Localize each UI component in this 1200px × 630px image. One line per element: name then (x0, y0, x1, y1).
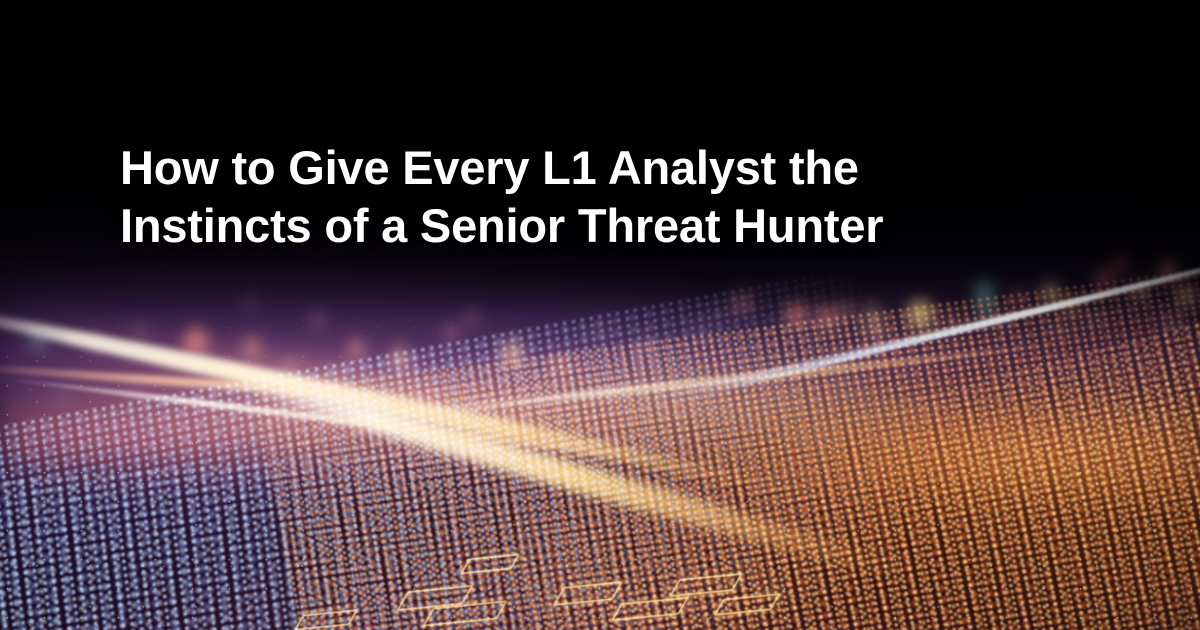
bokeh-light (175, 317, 217, 366)
geometric-outline (611, 597, 689, 622)
bokeh-light (990, 308, 1015, 337)
bokeh-light (1005, 283, 1032, 314)
wave-crest-rim (657, 240, 1200, 408)
bokeh-light (633, 331, 660, 362)
stream-outer-glow (0, 268, 909, 533)
stream-thin-1 (2, 375, 670, 464)
bokeh-light (1160, 308, 1185, 337)
bokeh-light (808, 296, 844, 339)
bokeh-light (1034, 274, 1066, 312)
blue-particle-field-2 (0, 420, 848, 630)
bokeh-light (1152, 252, 1184, 290)
bokeh-light (22, 320, 54, 358)
geometric-outline (422, 600, 507, 626)
geometric-outline (396, 585, 473, 611)
bokeh-light (725, 283, 759, 323)
blue-particle-field (0, 250, 989, 630)
red-particle-field (420, 250, 1200, 630)
bokeh-light (437, 316, 466, 350)
bokeh-light (236, 328, 268, 366)
stream-core-lower (203, 358, 926, 590)
bokeh-light (493, 331, 531, 376)
golden-geometric-outlines (0, 0, 1200, 630)
social-share-card: How to Give Every L1 Analyst the Instinc… (0, 0, 1200, 630)
particle-wave-surface (0, 0, 1200, 630)
bokeh-light (972, 292, 1001, 326)
bokeh-light (1057, 289, 1084, 320)
stream-warm-left (0, 361, 432, 403)
bokeh-light (51, 387, 74, 414)
bokeh-light (277, 352, 304, 383)
bokeh-light (858, 296, 887, 330)
page-title: How to Give Every L1 Analyst the Instinc… (120, 139, 910, 255)
warm-glow-layer (0, 0, 1200, 630)
bokeh-light (899, 289, 941, 338)
bokeh-city-lights (0, 0, 1200, 630)
geometric-outline (669, 573, 743, 597)
sparkle-speckles (0, 0, 1200, 630)
light-stream-ribbons (0, 0, 1200, 630)
geometric-outline (553, 581, 623, 606)
stream-thin-3 (608, 249, 1200, 412)
bokeh-light (128, 319, 151, 346)
bokeh-light (968, 272, 1000, 310)
bokeh-light (861, 311, 891, 347)
bokeh-light (546, 348, 575, 382)
bokeh-light (831, 293, 861, 329)
bokeh-light (238, 288, 263, 317)
bokeh-light (324, 364, 349, 393)
bokeh-light (1107, 249, 1134, 280)
purple-haze-layer (0, 0, 1200, 630)
geometric-outline (294, 609, 358, 630)
bokeh-light (1126, 274, 1155, 308)
bokeh-light (1089, 261, 1119, 297)
bokeh-light (341, 331, 371, 367)
bokeh-light (777, 293, 815, 338)
bokeh-light (459, 303, 486, 334)
bokeh-light (1171, 277, 1200, 313)
stream-core-bright (0, 299, 808, 503)
bokeh-light (1046, 316, 1071, 345)
bokeh-light (688, 318, 713, 347)
stream-thin-2 (362, 342, 1055, 422)
bokeh-light (707, 301, 730, 328)
geometric-outline (460, 554, 520, 575)
amber-particle-field-2 (500, 284, 1200, 630)
bokeh-light (383, 339, 417, 379)
amber-particle-field (252, 245, 1200, 630)
bokeh-light (1085, 307, 1108, 334)
bokeh-light (124, 378, 149, 407)
geometric-outline (713, 593, 780, 616)
bokeh-light (940, 308, 965, 337)
bokeh-light (305, 305, 332, 336)
night-sky-background (0, 0, 1200, 630)
top-darkening-scrim (0, 0, 1200, 630)
bokeh-light (84, 328, 109, 357)
bokeh-light (588, 318, 613, 347)
